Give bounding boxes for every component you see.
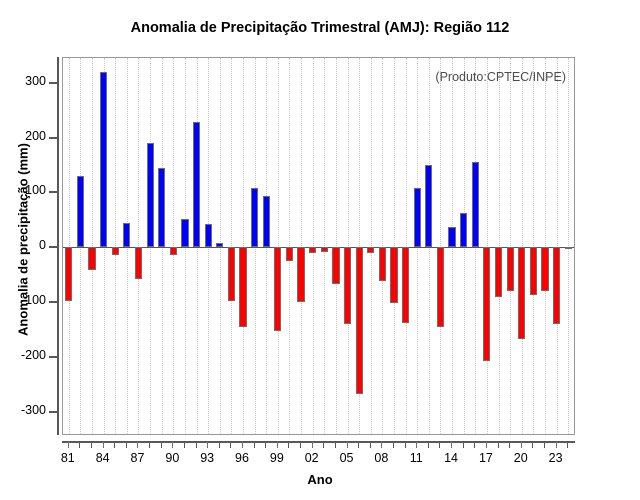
bar-13 bbox=[437, 247, 444, 327]
bar-98 bbox=[263, 196, 270, 248]
y-tick-label: 300 bbox=[25, 74, 46, 88]
x-tick-mark bbox=[370, 441, 371, 448]
bar-14 bbox=[448, 227, 455, 248]
bar-99 bbox=[274, 247, 281, 330]
x-tick-mark bbox=[114, 441, 115, 448]
bar-01 bbox=[297, 247, 304, 302]
grid-line bbox=[301, 58, 302, 434]
y-tick-label: -300 bbox=[21, 403, 46, 417]
x-tick-mark bbox=[451, 441, 452, 448]
x-tick-mark bbox=[323, 441, 324, 448]
y-tick-mark bbox=[49, 246, 57, 248]
x-tick-mark bbox=[230, 441, 231, 448]
x-tick-mark bbox=[79, 441, 80, 448]
grid-line bbox=[243, 58, 244, 434]
bar-94 bbox=[216, 243, 223, 247]
x-tick-mark bbox=[393, 441, 394, 448]
bar-85 bbox=[112, 247, 119, 255]
x-tick-mark bbox=[474, 441, 475, 448]
grid-line bbox=[69, 58, 70, 434]
bar-10 bbox=[402, 247, 409, 323]
y-tick-label: 100 bbox=[25, 183, 46, 197]
grid-line bbox=[440, 58, 441, 434]
x-tick-mark bbox=[254, 441, 255, 448]
bar-86 bbox=[123, 223, 130, 247]
grid-line bbox=[499, 58, 500, 434]
grid-line bbox=[568, 58, 569, 434]
bar-95 bbox=[228, 247, 235, 301]
grid-line bbox=[173, 58, 174, 434]
bar-81 bbox=[65, 247, 72, 301]
bar-97 bbox=[251, 188, 258, 247]
x-tick-mark bbox=[544, 441, 545, 448]
x-tick-label: 23 bbox=[536, 451, 576, 465]
bar-23 bbox=[553, 247, 560, 324]
x-tick-mark bbox=[196, 441, 197, 448]
bar-96 bbox=[239, 247, 246, 327]
grid-line bbox=[289, 58, 290, 434]
bar-93 bbox=[205, 224, 212, 247]
x-tick-mark bbox=[137, 441, 138, 448]
bar-89 bbox=[158, 168, 165, 247]
x-tick-mark bbox=[428, 441, 429, 448]
source-annotation: (Produto:CPTEC/INPE) bbox=[435, 70, 566, 84]
x-tick-mark bbox=[416, 441, 417, 448]
bar-17 bbox=[483, 247, 490, 361]
grid-line bbox=[545, 58, 546, 434]
grid-line bbox=[115, 58, 116, 434]
x-tick-mark bbox=[312, 441, 313, 448]
x-tick-mark bbox=[347, 441, 348, 448]
x-tick-mark bbox=[567, 441, 568, 448]
y-tick-label: -200 bbox=[21, 348, 46, 362]
bar-00 bbox=[286, 247, 293, 260]
bar-06 bbox=[356, 247, 363, 394]
bar-82 bbox=[77, 176, 84, 247]
x-tick-mark bbox=[103, 441, 104, 448]
grid-line bbox=[487, 58, 488, 434]
x-tick-mark bbox=[91, 441, 92, 448]
x-tick-mark bbox=[381, 441, 382, 448]
bar-20 bbox=[518, 247, 525, 339]
x-tick-mark bbox=[68, 441, 69, 448]
page-title: Anomalia de Precipitação Trimestral (AMJ… bbox=[0, 20, 640, 36]
y-axis-line bbox=[57, 57, 59, 435]
y-tick-label: -100 bbox=[21, 293, 46, 307]
bar-09 bbox=[390, 247, 397, 303]
bar-18 bbox=[495, 247, 502, 296]
grid-line bbox=[557, 58, 558, 434]
bar-16 bbox=[472, 162, 479, 247]
bar-03 bbox=[321, 247, 328, 251]
y-tick-mark bbox=[49, 191, 57, 193]
x-tick-mark bbox=[300, 441, 301, 448]
grid-line bbox=[313, 58, 314, 434]
y-tick-mark bbox=[49, 82, 57, 84]
x-tick-mark bbox=[277, 441, 278, 448]
y-tick-mark bbox=[49, 301, 57, 303]
x-tick-mark bbox=[161, 441, 162, 448]
grid-line bbox=[348, 58, 349, 434]
plot-area: (Produto:CPTEC/INPE) bbox=[62, 57, 575, 435]
x-tick-mark bbox=[288, 441, 289, 448]
x-tick-mark bbox=[532, 441, 533, 448]
x-axis-title: Ano bbox=[0, 472, 640, 487]
chart-figure: Anomalia de Precipitação Trimestral (AMJ… bbox=[0, 0, 640, 500]
bar-12 bbox=[425, 165, 432, 247]
grid-line bbox=[336, 58, 337, 434]
grid-line bbox=[92, 58, 93, 434]
grid-line bbox=[510, 58, 511, 434]
x-tick-mark bbox=[556, 441, 557, 448]
x-tick-mark bbox=[509, 441, 510, 448]
bar-02 bbox=[309, 247, 316, 252]
x-tick-mark bbox=[242, 441, 243, 448]
grid-line bbox=[406, 58, 407, 434]
bar-22 bbox=[541, 247, 548, 291]
x-tick-mark bbox=[207, 441, 208, 448]
grid-line bbox=[324, 58, 325, 434]
x-tick-mark bbox=[219, 441, 220, 448]
y-tick-mark bbox=[49, 411, 57, 413]
bar-05 bbox=[344, 247, 351, 324]
grid-line bbox=[394, 58, 395, 434]
bar-15 bbox=[460, 213, 467, 247]
bar-24 bbox=[565, 247, 572, 249]
x-tick-mark bbox=[498, 441, 499, 448]
grid-line bbox=[382, 58, 383, 434]
grid-line bbox=[533, 58, 534, 434]
bar-91 bbox=[181, 219, 188, 247]
x-tick-mark bbox=[149, 441, 150, 448]
y-tick-mark bbox=[49, 137, 57, 139]
x-tick-mark bbox=[486, 441, 487, 448]
x-tick-mark bbox=[172, 441, 173, 448]
x-tick-mark bbox=[126, 441, 127, 448]
bar-08 bbox=[379, 247, 386, 281]
bar-19 bbox=[507, 247, 514, 291]
bar-88 bbox=[147, 143, 154, 247]
x-tick-mark bbox=[184, 441, 185, 448]
x-tick-mark bbox=[335, 441, 336, 448]
bar-92 bbox=[193, 122, 200, 248]
bar-07 bbox=[367, 247, 374, 252]
bar-83 bbox=[88, 247, 95, 270]
x-tick-mark bbox=[405, 441, 406, 448]
grid-line bbox=[371, 58, 372, 434]
grid-line bbox=[522, 58, 523, 434]
grid-line bbox=[138, 58, 139, 434]
bar-87 bbox=[135, 247, 142, 279]
bar-04 bbox=[332, 247, 339, 283]
grid-line bbox=[231, 58, 232, 434]
bar-90 bbox=[170, 247, 177, 255]
bar-21 bbox=[530, 247, 537, 294]
x-tick-mark bbox=[439, 441, 440, 448]
y-tick-mark bbox=[49, 356, 57, 358]
x-tick-mark bbox=[521, 441, 522, 448]
bar-11 bbox=[414, 188, 421, 248]
bar-84 bbox=[100, 72, 107, 248]
x-tick-mark bbox=[265, 441, 266, 448]
x-tick-mark bbox=[463, 441, 464, 448]
y-tick-label: 200 bbox=[25, 129, 46, 143]
grid-line bbox=[278, 58, 279, 434]
y-tick-label: 0 bbox=[39, 238, 46, 252]
x-tick-mark bbox=[358, 441, 359, 448]
